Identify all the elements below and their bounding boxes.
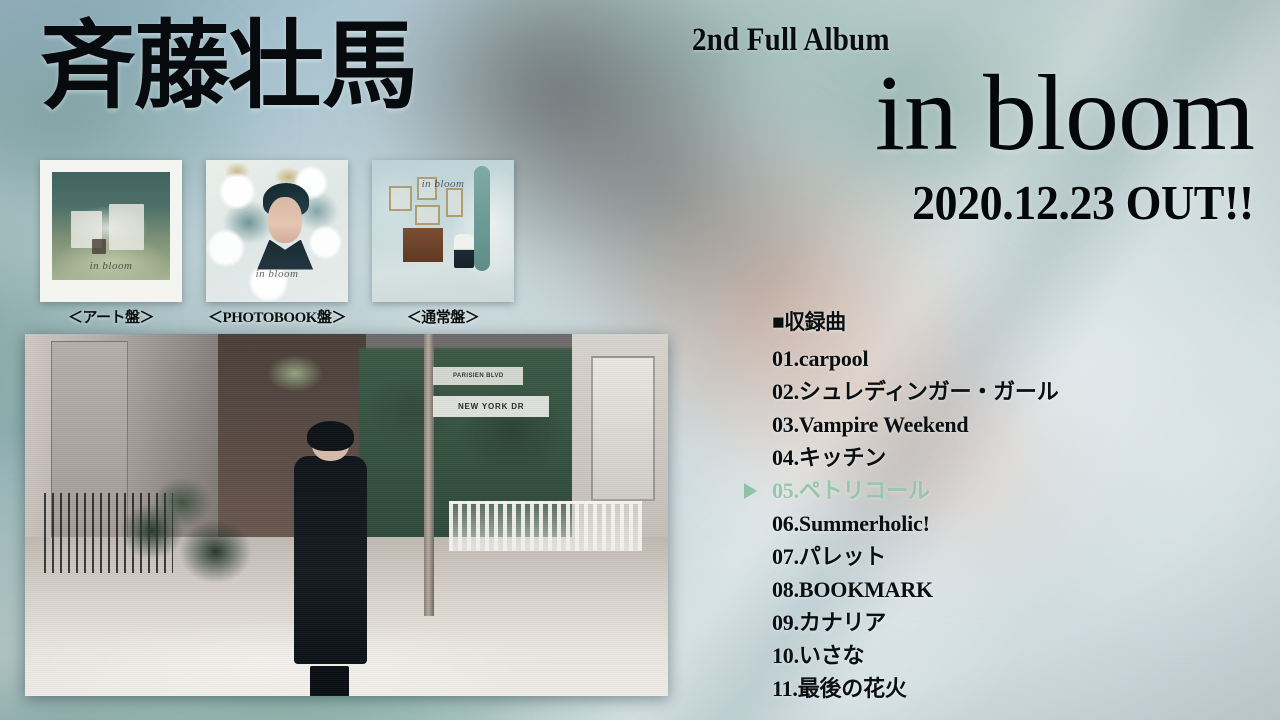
jacket-figure-face — [268, 197, 302, 243]
tracklist-item[interactable]: 10.いさな — [772, 639, 1059, 672]
tracklist-item[interactable]: 08.BOOKMARK — [772, 573, 1059, 606]
tracklist-item[interactable]: 02.シュレディンガー・ガール — [772, 375, 1059, 408]
release-date: 2020.12.23 OUT!! — [701, 178, 1254, 227]
tracklist-item[interactable]: 06.Summerholic! — [772, 507, 1059, 540]
tracklist-item[interactable]: 11.最後の花火 — [772, 672, 1059, 705]
track-title: いさな — [799, 643, 864, 668]
track-number: 08. — [772, 577, 799, 602]
jacket-dresser — [403, 228, 443, 262]
track-title: Vampire Weekend — [799, 412, 969, 437]
edition-photobook: in bloom ＜PHOTOBOOK盤＞ — [206, 160, 348, 327]
tracklist-rows: 01.carpool02.シュレディンガー・ガール03.Vampire Week… — [772, 342, 1059, 705]
tracklist-item[interactable]: 09.カナリア — [772, 606, 1059, 639]
track-number: 02. — [772, 379, 799, 404]
edition-caption: ＜通常盤＞ — [372, 306, 514, 327]
album-headline-block: 2nd Full Album in bloom 2020.12.23 OUT!! — [665, 24, 1254, 227]
track-number: 11. — [772, 676, 798, 701]
edition-regular: in bloom ＜通常盤＞ — [372, 160, 514, 327]
track-title: 最後の花火 — [798, 676, 907, 701]
edition-art: in bloom ＜アート盤＞ — [40, 160, 182, 327]
tracklist-heading: ■収録曲 — [772, 312, 1059, 333]
track-number: 04. — [772, 445, 799, 470]
edition-photobook-jacket: in bloom — [206, 160, 348, 302]
mv-film-grain — [25, 334, 668, 696]
tracklist-item[interactable]: 07.パレット — [772, 540, 1059, 573]
artist-name: 斉藤壮馬 — [40, 18, 416, 114]
jacket-logo: in bloom — [372, 178, 514, 190]
jacket-figure — [454, 234, 474, 268]
track-number: 01. — [772, 346, 799, 371]
jacket-prop — [109, 204, 144, 249]
jacket-logo: in bloom — [206, 268, 348, 280]
tracklist-item-current[interactable]: 05.ペトリコール — [772, 474, 1059, 507]
edition-caption: ＜アート盤＞ — [40, 306, 182, 327]
jacket-figure-collar — [257, 240, 313, 270]
tracklist: ■収録曲 01.carpool02.シュレディンガー・ガール03.Vampire… — [772, 312, 1059, 705]
track-title: パレット — [799, 544, 886, 569]
album-title: in bloom — [665, 59, 1254, 169]
music-video-frame: PARISIEN BLVD NEW YORK DR — [25, 334, 668, 696]
track-number: 10. — [772, 643, 799, 668]
track-title: carpool — [799, 346, 868, 371]
track-title: シュレディンガー・ガール — [799, 379, 1059, 404]
track-title: BOOKMARK — [799, 577, 933, 602]
edition-art-jacket: in bloom — [40, 160, 182, 302]
track-title: キッチン — [799, 445, 886, 470]
edition-caption: ＜PHOTOBOOK盤＞ — [206, 306, 348, 327]
play-triangle-icon — [744, 483, 757, 499]
tracklist-item[interactable]: 01.carpool — [772, 342, 1059, 375]
video-player-stage: 斉藤壮馬 2nd Full Album in bloom 2020.12.23 … — [0, 0, 1280, 720]
album-kicker: 2nd Full Album — [692, 24, 890, 57]
tracklist-item[interactable]: 04.キッチン — [772, 441, 1059, 474]
track-title: Summerholic! — [799, 511, 930, 536]
track-title: ペトリコール — [799, 478, 930, 503]
edition-regular-jacket: in bloom — [372, 160, 514, 302]
jacket-logo: in bloom — [40, 260, 182, 272]
jacket-prop — [92, 239, 106, 254]
track-number: 05. — [772, 478, 799, 503]
track-title: カナリア — [799, 610, 886, 635]
track-number: 06. — [772, 511, 799, 536]
track-number: 07. — [772, 544, 799, 569]
jacket-frame — [446, 188, 463, 216]
track-number: 03. — [772, 412, 799, 437]
edition-thumbnails: in bloom ＜アート盤＞ in bloom ＜PHOTOBOOK盤＞ — [40, 160, 514, 327]
jacket-frame — [415, 205, 441, 225]
track-number: 09. — [772, 610, 799, 635]
tracklist-item[interactable]: 03.Vampire Weekend — [772, 408, 1059, 441]
